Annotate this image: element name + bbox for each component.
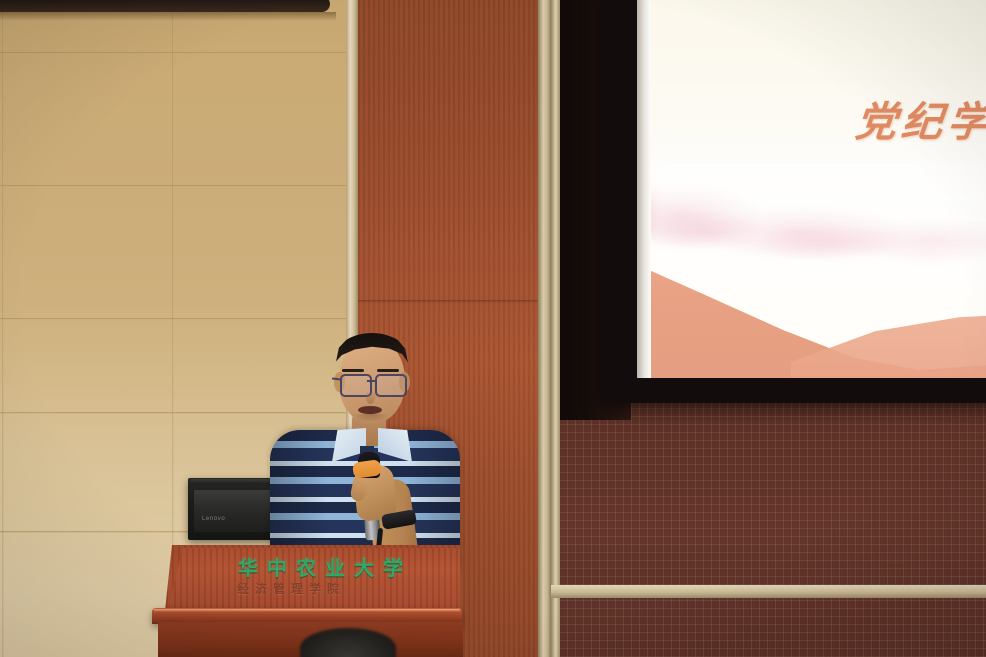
column-trim-right xyxy=(538,0,551,657)
projection-screen: 党纪学习 xyxy=(651,0,986,378)
wall-seam xyxy=(0,185,352,187)
ceiling-beam-shadow xyxy=(0,12,336,21)
wood-column-seam xyxy=(358,300,538,303)
wall-seam xyxy=(0,52,352,54)
speaker-nose xyxy=(366,391,375,404)
wall-seam xyxy=(0,318,352,320)
lectern-lip-highlight xyxy=(154,609,460,612)
right-wall-trim-vertical xyxy=(551,0,560,657)
wall-seam-vertical xyxy=(2,0,4,657)
lectern-department-name: 经济管理学院 xyxy=(237,580,345,597)
monitor-brand-label: Lenovo xyxy=(202,516,225,522)
speaker-mouth xyxy=(358,406,382,414)
speaker-eyebrow-right xyxy=(377,369,399,372)
photo-canvas: 党纪学习 Lenovo 华中农业大学 经济管理学院 xyxy=(0,0,986,657)
ceiling-beam xyxy=(0,0,330,12)
slide-title: 党纪学习 xyxy=(853,88,986,148)
lectern-institution-name: 华中农业大学 xyxy=(238,552,412,581)
projection-screen-edge xyxy=(637,0,651,378)
speaker-chin-shadow xyxy=(350,414,390,423)
right-wall-trim-horizontal xyxy=(551,585,986,598)
eyeglasses-lens-right xyxy=(375,374,407,397)
speaker-eyebrow-left xyxy=(342,369,364,372)
eyeglasses-bridge xyxy=(367,380,376,382)
